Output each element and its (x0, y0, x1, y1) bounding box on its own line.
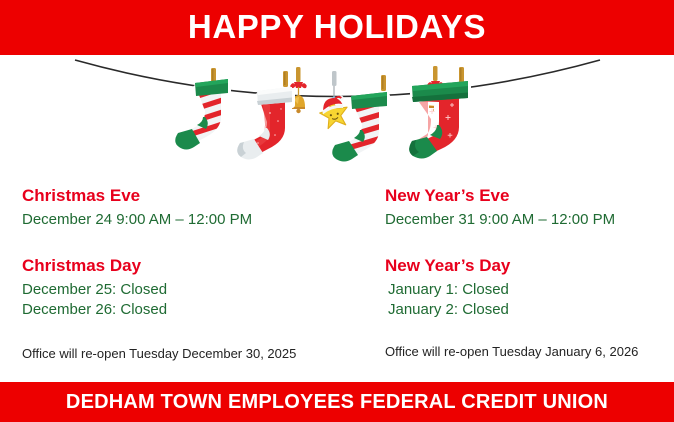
stockings-illustration (0, 55, 674, 175)
december-25-status: December 25: Closed (22, 280, 367, 300)
christmas-eve-hours: December 24 9:00 AM – 12:00 PM (22, 210, 367, 230)
christmas-eve-block: Christmas Eve December 24 9:00 AM – 12:0… (22, 185, 367, 230)
star-ornament (317, 71, 351, 130)
string-line (75, 60, 600, 97)
christmas-day-block: Christmas Day December 25: Closed Decemb… (22, 255, 367, 320)
bottom-red-banner: DEDHAM TOWN EMPLOYEES FEDERAL CREDIT UNI… (0, 382, 674, 422)
stocking-red-white-2 (237, 71, 292, 160)
stocking-striped-green-1 (175, 68, 232, 151)
top-red-banner: HAPPY HOLIDAYS (0, 0, 674, 55)
christmas-day-heading: Christmas Day (22, 255, 367, 277)
left-hours-column: Christmas Eve December 24 9:00 AM – 12:0… (22, 185, 367, 320)
credit-union-name: DEDHAM TOWN EMPLOYEES FEDERAL CREDIT UNI… (0, 382, 674, 422)
stocking-red-green-4 (409, 67, 468, 159)
new-years-day-block: New Year’s Day January 1: Closed January… (385, 255, 670, 320)
new-years-eve-hours: December 31 9:00 AM – 12:00 PM (385, 210, 670, 230)
december-26-status: December 26: Closed (22, 300, 367, 320)
holiday-hours-flyer: HAPPY HOLIDAYS (0, 0, 674, 422)
happy-holidays-title: HAPPY HOLIDAYS (0, 0, 674, 55)
january-1-status: January 1: Closed (385, 280, 670, 300)
new-years-eve-heading: New Year’s Eve (385, 185, 670, 207)
new-years-eve-block: New Year’s Eve December 31 9:00 AM – 12:… (385, 185, 670, 230)
right-hours-column: New Year’s Eve December 31 9:00 AM – 12:… (385, 185, 670, 320)
left-reopen-note: Office will re-open Tuesday December 30,… (22, 345, 296, 362)
january-2-status: January 2: Closed (385, 300, 670, 320)
new-years-day-heading: New Year’s Day (385, 255, 670, 277)
christmas-eve-heading: Christmas Eve (22, 185, 367, 207)
right-reopen-note: Office will re-open Tuesday January 6, 2… (385, 343, 638, 360)
